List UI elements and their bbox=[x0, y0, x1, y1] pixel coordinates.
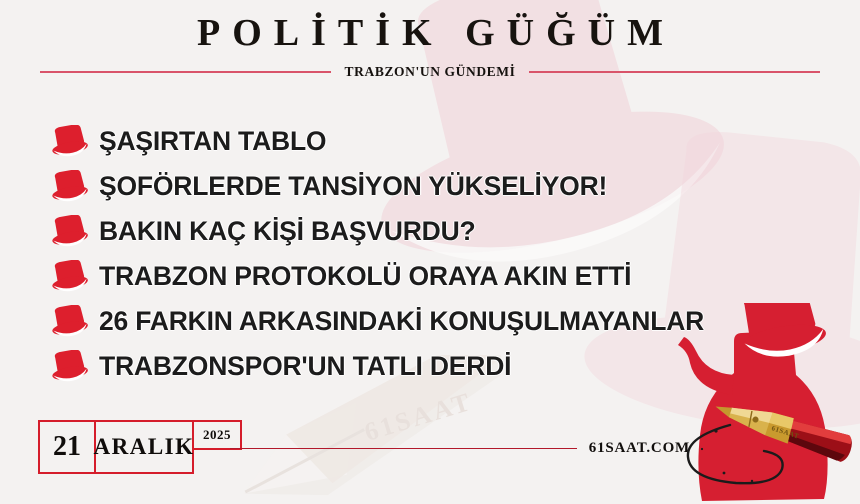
headline-text: 26 FARKIN ARKASINDAKİ KONUŞULMAYANLAR bbox=[99, 306, 704, 337]
headline-text: ŞOFÖRLERDE TANSİYON YÜKSELİYOR! bbox=[99, 171, 607, 202]
date-stamp: 21 ARALIK 2025 bbox=[38, 420, 242, 474]
page-title: POLİTİK GÜĞÜM bbox=[0, 14, 860, 52]
date-month: ARALIK bbox=[94, 420, 194, 474]
headline-text: TRABZON PROTOKOLÜ ORAYA AKIN ETTİ bbox=[99, 261, 631, 292]
red-hat-icon bbox=[44, 305, 90, 339]
date-day: 21 bbox=[38, 420, 96, 474]
site-rule bbox=[230, 448, 577, 450]
kettle-logo-icon: 61SAAT bbox=[672, 303, 852, 504]
headline-item[interactable]: BAKIN KAÇ KİŞİ BAŞVURDU? bbox=[44, 209, 844, 254]
newspaper-agenda-poster: 61SAAT POLİTİK GÜĞÜM TRABZON'UN GÜNDEMİ … bbox=[0, 0, 860, 504]
subtitle-row: TRABZON'UN GÜNDEMİ bbox=[0, 64, 860, 80]
red-hat-icon bbox=[44, 125, 90, 159]
headline-text: BAKIN KAÇ KİŞİ BAŞVURDU? bbox=[99, 216, 476, 247]
headline-text: ŞAŞIRTAN TABLO bbox=[99, 126, 326, 157]
red-hat-icon bbox=[44, 260, 90, 294]
site-row: 61SAAT.COM bbox=[230, 440, 690, 457]
headline-item[interactable]: ŞAŞIRTAN TABLO bbox=[44, 119, 844, 164]
red-hat-icon bbox=[44, 350, 90, 384]
svg-text:61SAAT: 61SAAT bbox=[361, 387, 476, 447]
rule-left bbox=[40, 71, 331, 73]
red-hat-icon bbox=[44, 170, 90, 204]
rule-right bbox=[529, 71, 820, 73]
headline-text: TRABZONSPOR'UN TATLI DERDİ bbox=[99, 351, 511, 382]
brand-subtitle: TRABZON'UN GÜNDEMİ bbox=[345, 64, 516, 80]
red-hat-icon bbox=[44, 215, 90, 249]
masthead: POLİTİK GÜĞÜM bbox=[0, 14, 860, 52]
headline-item[interactable]: TRABZON PROTOKOLÜ ORAYA AKIN ETTİ bbox=[44, 254, 844, 299]
headline-item[interactable]: ŞOFÖRLERDE TANSİYON YÜKSELİYOR! bbox=[44, 164, 844, 209]
